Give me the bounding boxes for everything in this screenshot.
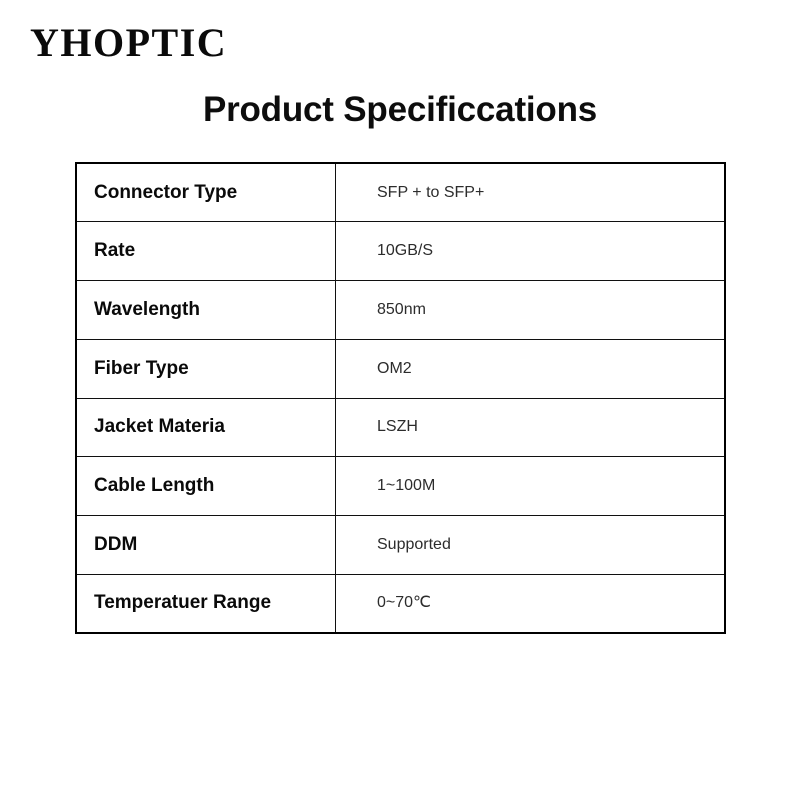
brand-logo: YHOPTIC — [30, 20, 227, 66]
table-row: Cable Length 1~100M — [76, 457, 725, 516]
product-spec-page: YHOPTIC Product Specificcations Connecto… — [0, 0, 800, 800]
spec-label-fiber-type: Fiber Type — [76, 339, 336, 398]
spec-value-connector-type: SFP + to SFP+ — [336, 163, 726, 222]
table-row: Connector Type SFP + to SFP+ — [76, 163, 725, 222]
spec-value-jacket-material: LSZH — [336, 398, 726, 457]
table-row: DDM Supported — [76, 516, 725, 575]
spec-value-ddm: Supported — [336, 516, 726, 575]
table-row: Wavelength 850nm — [76, 281, 725, 340]
spec-value-cable-length: 1~100M — [336, 457, 726, 516]
table-row: Fiber Type OM2 — [76, 339, 725, 398]
spec-value-wavelength: 850nm — [336, 281, 726, 340]
table-row: Temperatuer Range 0~70℃ — [76, 574, 725, 633]
product-specifications-table: Connector Type SFP + to SFP+ Rate 10GB/S… — [75, 162, 726, 634]
spec-table-container: Connector Type SFP + to SFP+ Rate 10GB/S… — [75, 162, 726, 632]
spec-value-fiber-type: OM2 — [336, 339, 726, 398]
page-title: Product Specificcations — [0, 88, 800, 132]
spec-label-connector-type: Connector Type — [76, 163, 336, 222]
spec-label-jacket-material: Jacket Materia — [76, 398, 336, 457]
spec-value-temperature-range: 0~70℃ — [336, 574, 726, 633]
spec-table-body: Connector Type SFP + to SFP+ Rate 10GB/S… — [76, 163, 725, 633]
table-row: Rate 10GB/S — [76, 222, 725, 281]
spec-label-cable-length: Cable Length — [76, 457, 336, 516]
spec-label-wavelength: Wavelength — [76, 281, 336, 340]
spec-value-rate: 10GB/S — [336, 222, 726, 281]
spec-label-rate: Rate — [76, 222, 336, 281]
spec-label-ddm: DDM — [76, 516, 336, 575]
spec-label-temperature-range: Temperatuer Range — [76, 574, 336, 633]
table-row: Jacket Materia LSZH — [76, 398, 725, 457]
